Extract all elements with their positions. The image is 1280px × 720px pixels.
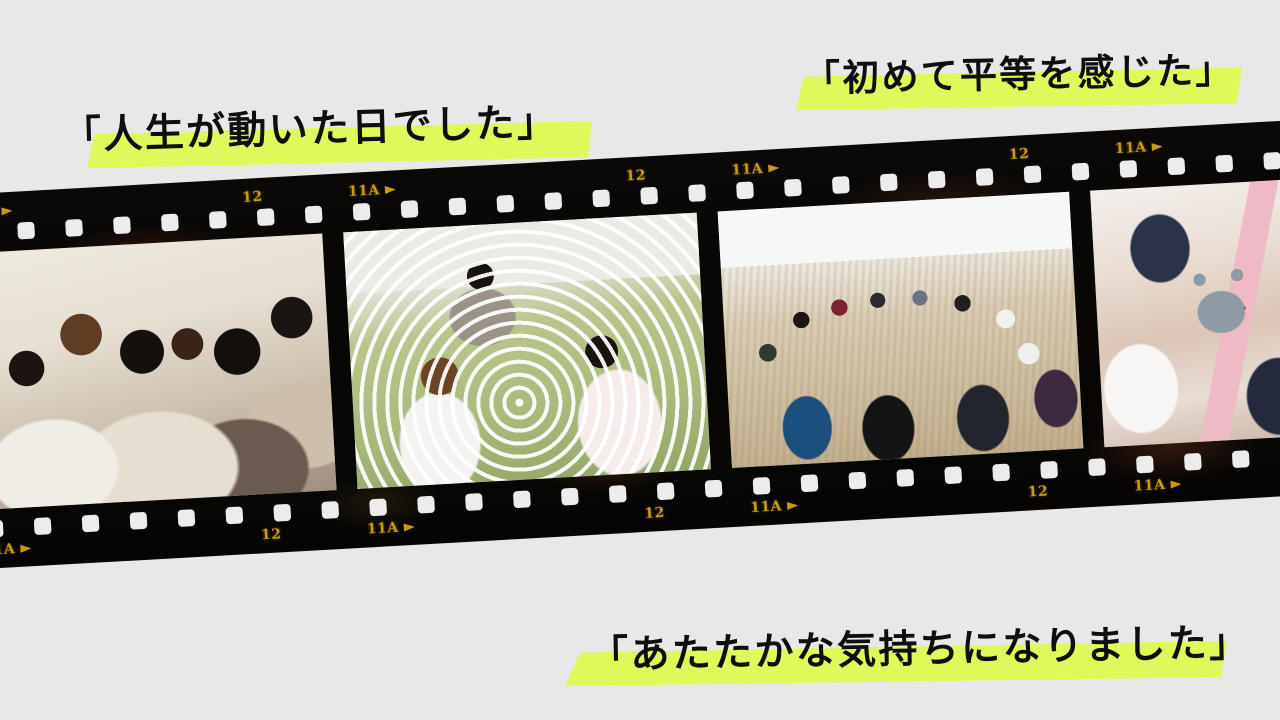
sprocket-hole bbox=[784, 179, 802, 197]
photo-group-hug bbox=[0, 234, 337, 510]
sprocket-hole bbox=[369, 498, 387, 516]
sprocket-hole bbox=[688, 184, 706, 202]
sprocket-hole bbox=[928, 171, 946, 189]
photo-large-seated-circle bbox=[718, 192, 1084, 468]
sprocket-hole bbox=[1024, 165, 1042, 183]
photo-frame-3[interactable] bbox=[718, 192, 1084, 468]
sprocket-hole bbox=[705, 480, 723, 498]
filmstrip: 11A 12 11A 12 11A 12 11A bbox=[0, 119, 1280, 570]
sprocket-hole bbox=[1263, 152, 1280, 170]
sprocket-hole bbox=[848, 472, 866, 490]
sprocket-hole bbox=[753, 477, 771, 495]
sprocket-hole bbox=[640, 187, 658, 205]
sprocket-hole bbox=[0, 520, 4, 538]
sprocket-hole bbox=[496, 195, 514, 213]
sprocket-hole bbox=[592, 189, 610, 207]
sprocket-hole bbox=[401, 200, 419, 218]
sprocket-hole bbox=[273, 504, 291, 522]
testimonial-caption-3: 「あたたかな気持ちになりました」 bbox=[589, 612, 1251, 681]
sprocket-hole bbox=[992, 464, 1010, 482]
sprocket-hole bbox=[225, 506, 243, 524]
sprocket-hole bbox=[321, 501, 339, 519]
sprocket-hole bbox=[34, 517, 52, 535]
sprocket-hole bbox=[609, 485, 627, 503]
sprocket-hole bbox=[657, 482, 675, 500]
sprocket-hole bbox=[1119, 160, 1137, 178]
sprocket-hole bbox=[161, 214, 179, 232]
sprocket-hole bbox=[880, 173, 898, 191]
sprocket-hole bbox=[944, 466, 962, 484]
sprocket-hole bbox=[1136, 456, 1154, 474]
sprocket-hole bbox=[65, 219, 83, 237]
sprocket-hole bbox=[417, 496, 435, 514]
sprocket-hole bbox=[544, 192, 562, 210]
caption-text: 「初めて平等を感じた」 bbox=[802, 39, 1234, 102]
sprocket-hole bbox=[561, 488, 579, 506]
photo-frame-2[interactable] bbox=[343, 213, 711, 489]
sprocket-hole bbox=[17, 222, 35, 240]
sprocket-hole bbox=[448, 197, 466, 215]
sprocket-hole bbox=[305, 206, 323, 224]
sprocket-hole bbox=[976, 168, 994, 186]
sprocket-hole bbox=[1072, 163, 1090, 181]
sprocket-hole bbox=[1232, 450, 1250, 468]
sprocket-hole bbox=[257, 208, 275, 226]
photo-hands-plush-toy bbox=[1090, 178, 1280, 447]
sprocket-hole bbox=[736, 181, 754, 199]
sprocket-hole bbox=[82, 514, 100, 532]
sprocket-hole bbox=[896, 469, 914, 487]
sprocket-hole bbox=[353, 203, 371, 221]
testimonial-caption-2: 「初めて平等を感じた」 bbox=[802, 39, 1234, 102]
sprocket-hole bbox=[1040, 461, 1058, 479]
testimonial-caption-1: 「人生が動いた日でした」 bbox=[61, 91, 558, 161]
photo-frame-4[interactable] bbox=[1090, 178, 1280, 447]
sprocket-hole bbox=[113, 216, 131, 234]
sprocket-hole bbox=[209, 211, 227, 229]
photo-paper-spiral-circle bbox=[343, 213, 711, 489]
sprocket-hole bbox=[1167, 157, 1185, 175]
sprocket-hole bbox=[465, 493, 483, 511]
photo-frame-1[interactable] bbox=[0, 234, 337, 510]
sprocket-hole bbox=[1088, 458, 1106, 476]
sprocket-hole bbox=[130, 512, 148, 530]
sprocket-hole bbox=[177, 509, 195, 527]
sprocket-hole bbox=[1184, 453, 1202, 471]
sprocket-hole bbox=[513, 490, 531, 508]
sprocket-hole bbox=[800, 474, 818, 492]
sprocket-hole bbox=[832, 176, 850, 194]
sprocket-hole bbox=[1215, 155, 1233, 173]
